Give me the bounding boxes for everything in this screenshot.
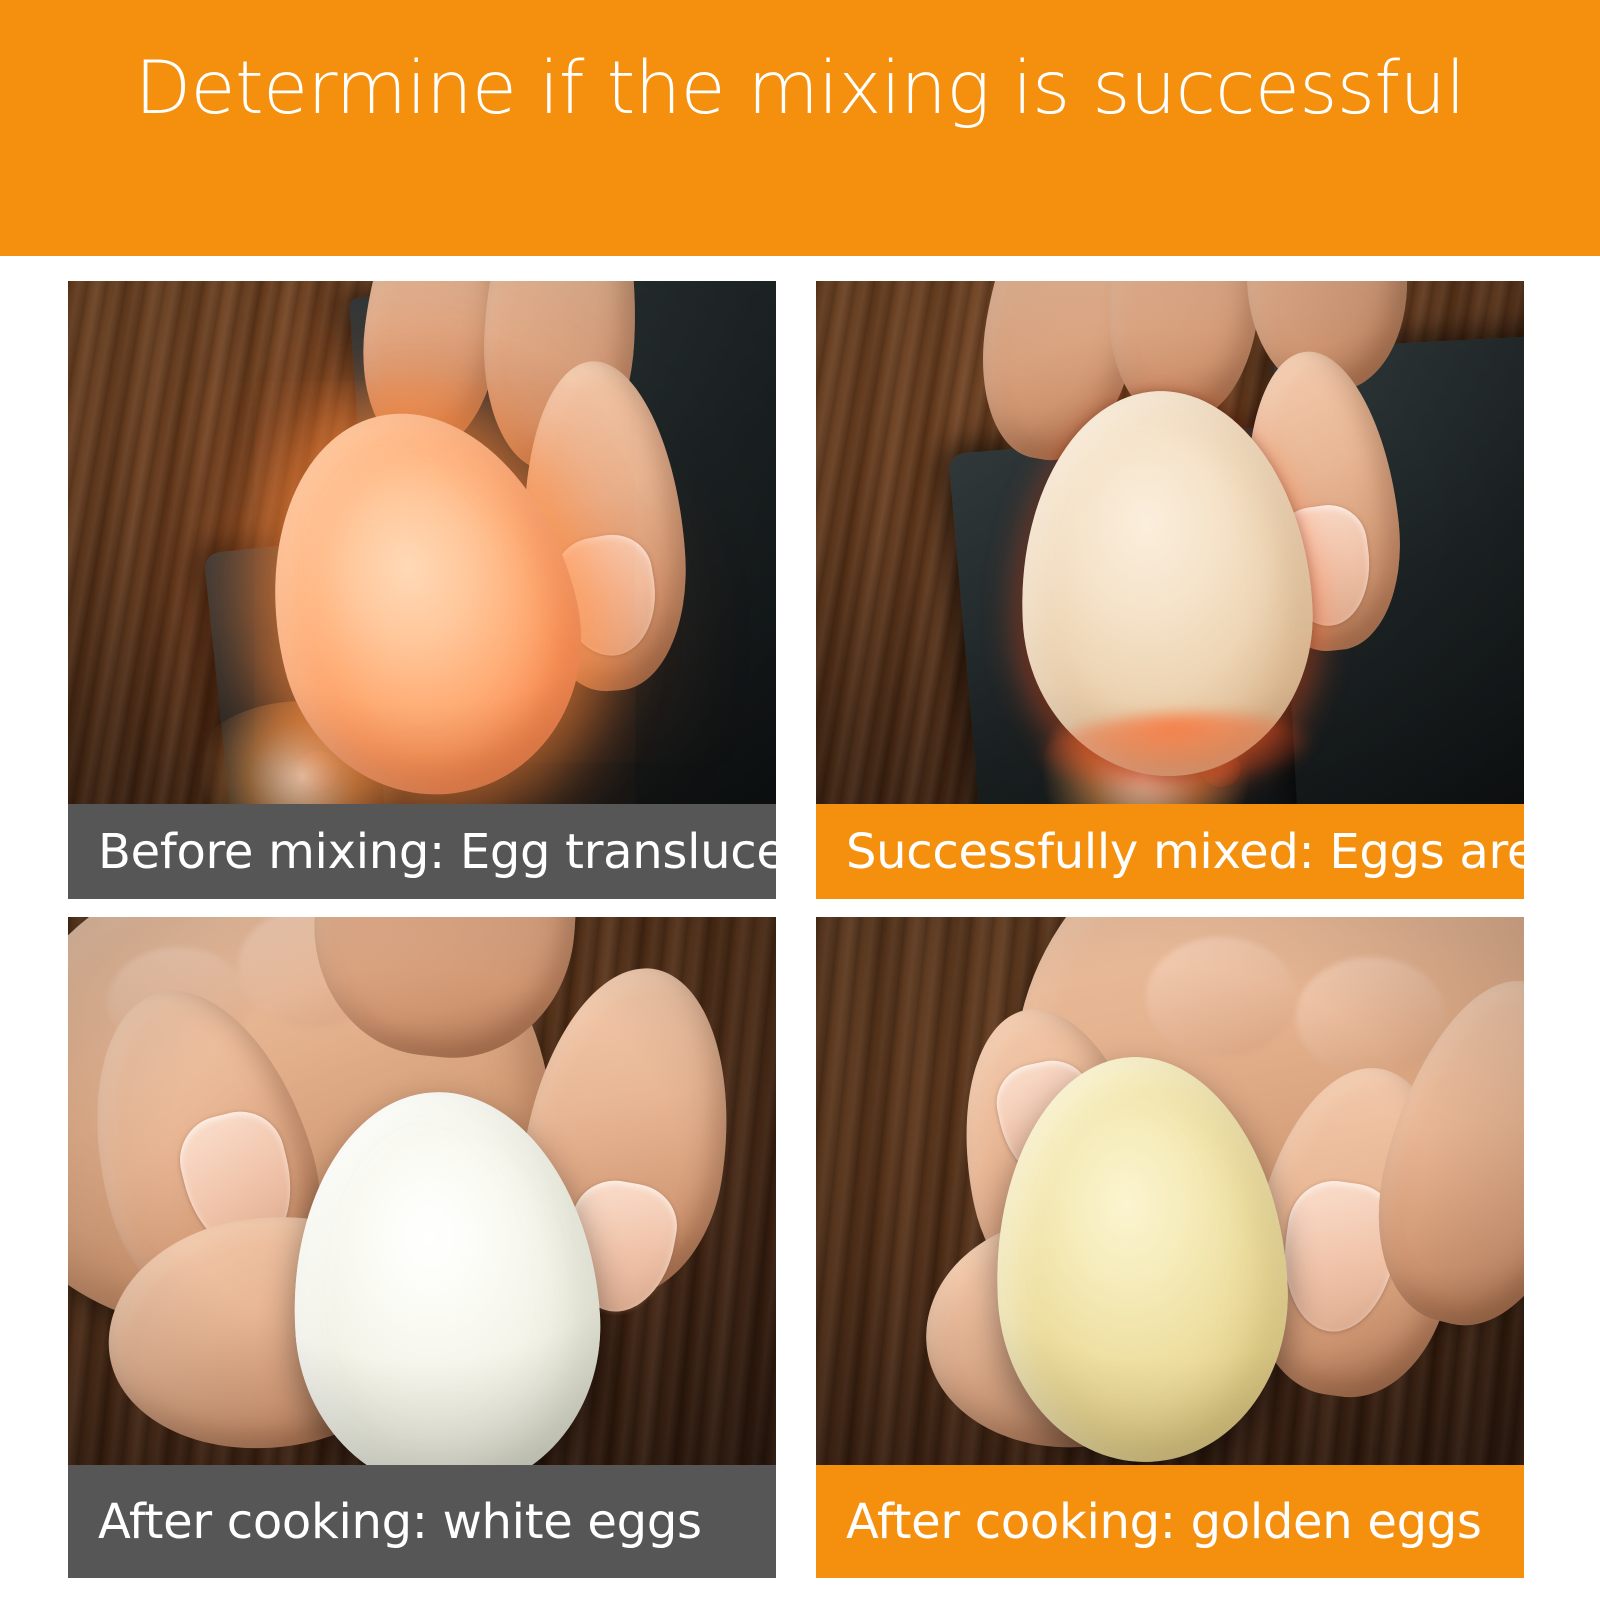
page-title: Determine if the mixing is successful <box>135 52 1465 125</box>
caption-before-mixing: Before mixing: Egg translucent <box>68 804 776 899</box>
panel-after-cooking-golden[interactable]: After cooking: golden eggs <box>816 917 1524 1578</box>
photo-after-cooking-golden <box>816 917 1524 1465</box>
caption-successfully-mixed: Successfully mixed: Eggs are opaque <box>816 804 1524 899</box>
knuckle-highlight <box>1296 957 1446 1077</box>
panel-after-cooking-white[interactable]: After cooking: white eggs <box>68 917 776 1578</box>
comparison-grid: Before mixing: Egg translucent Successfu… <box>68 281 1524 1578</box>
photo-successfully-mixed <box>816 281 1524 804</box>
panel-before-mixing[interactable]: Before mixing: Egg translucent <box>68 281 776 899</box>
photo-before-mixing <box>68 281 776 804</box>
knuckle-highlight <box>1146 937 1296 1057</box>
header-banner: Determine if the mixing is successful <box>0 0 1600 256</box>
panel-successfully-mixed[interactable]: Successfully mixed: Eggs are opaque <box>816 281 1524 899</box>
caption-after-cooking-white: After cooking: white eggs <box>68 1465 776 1578</box>
photo-after-cooking-white <box>68 917 776 1465</box>
caption-after-cooking-golden: After cooking: golden eggs <box>816 1465 1524 1578</box>
